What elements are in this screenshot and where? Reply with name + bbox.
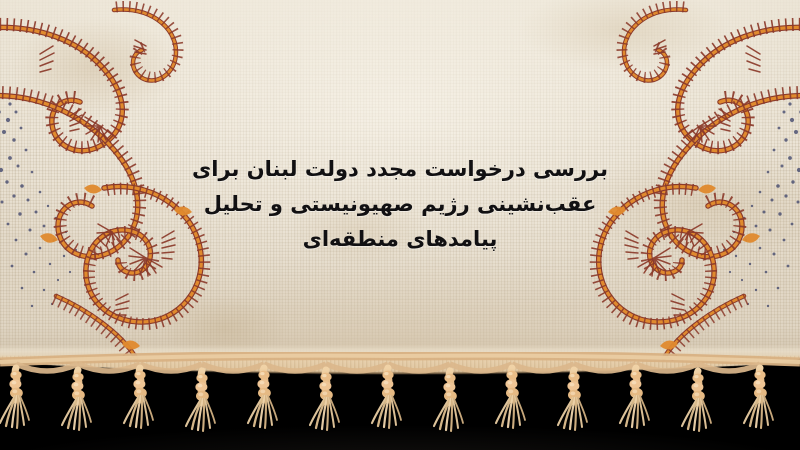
banner-headline: بررسی درخواست مجدد دولت لبنان برای عقب‌ن… [0,152,800,257]
headline-line-1: بررسی درخواست مجدد دولت لبنان برای [190,152,610,187]
headline-line-2: عقب‌نشینی رژیم صهیونیستی و تحلیل [190,187,610,222]
banner-canvas: بررسی درخواست مجدد دولت لبنان برای عقب‌ن… [0,0,800,450]
headline-line-3: پیامدهای منطقه‌ای [190,222,610,257]
knotted-tassel-fringe [0,352,800,450]
